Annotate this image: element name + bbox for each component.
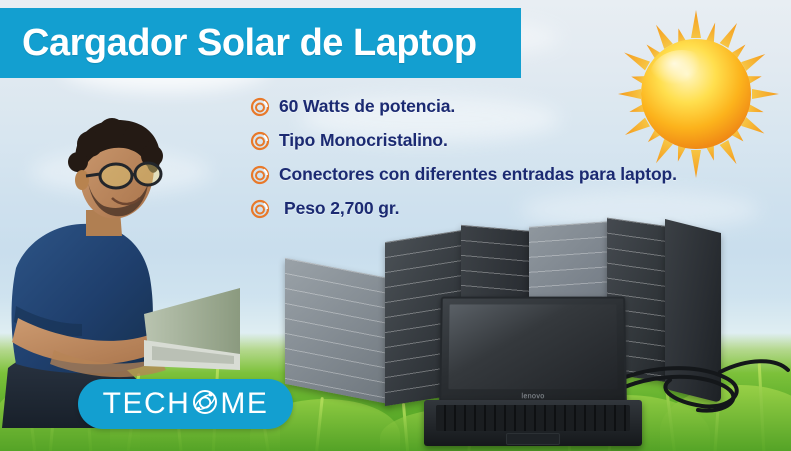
brand-logo-text-before: TECH: [103, 389, 191, 419]
promotional-banner: lenovo Cargador Solar de Laptop: [0, 0, 791, 451]
brand-logo-text: TECH ME: [103, 387, 269, 421]
spiral-target-icon: [250, 165, 270, 185]
list-item: Conectores con diferentes entradas para …: [250, 160, 790, 189]
spiral-target-icon: [250, 199, 270, 219]
laptop-screen: [448, 304, 617, 389]
feature-list: 60 Watts de potencia. Tipo Monocristalin…: [250, 92, 790, 228]
laptop-trackpad: [506, 433, 560, 445]
brand-logo-text-after: ME: [220, 389, 268, 419]
list-item-label: 60 Watts de potencia.: [279, 96, 455, 117]
spiral-target-icon: [250, 97, 270, 117]
list-item: Peso 2,700 gr.: [250, 194, 790, 223]
list-item-label: Tipo Monocristalino.: [279, 130, 448, 151]
list-item: Tipo Monocristalino.: [250, 126, 790, 155]
list-item-label: Conectores con diferentes entradas para …: [279, 164, 677, 185]
page-title: Cargador Solar de Laptop: [22, 24, 477, 62]
laptop-lid: lenovo: [439, 297, 627, 405]
laptop-base: [424, 400, 642, 446]
spiral-target-icon: [250, 131, 270, 151]
list-item-label: Peso 2,700 gr.: [284, 198, 399, 219]
brand-logo[interactable]: TECH ME: [78, 379, 293, 429]
lenovo-laptop: lenovo: [424, 296, 642, 446]
list-item: 60 Watts de potencia.: [250, 92, 790, 121]
banner-title-bar: Cargador Solar de Laptop: [0, 8, 521, 78]
laptop-keyboard: [436, 405, 630, 431]
orbit-o-icon: [191, 388, 219, 422]
